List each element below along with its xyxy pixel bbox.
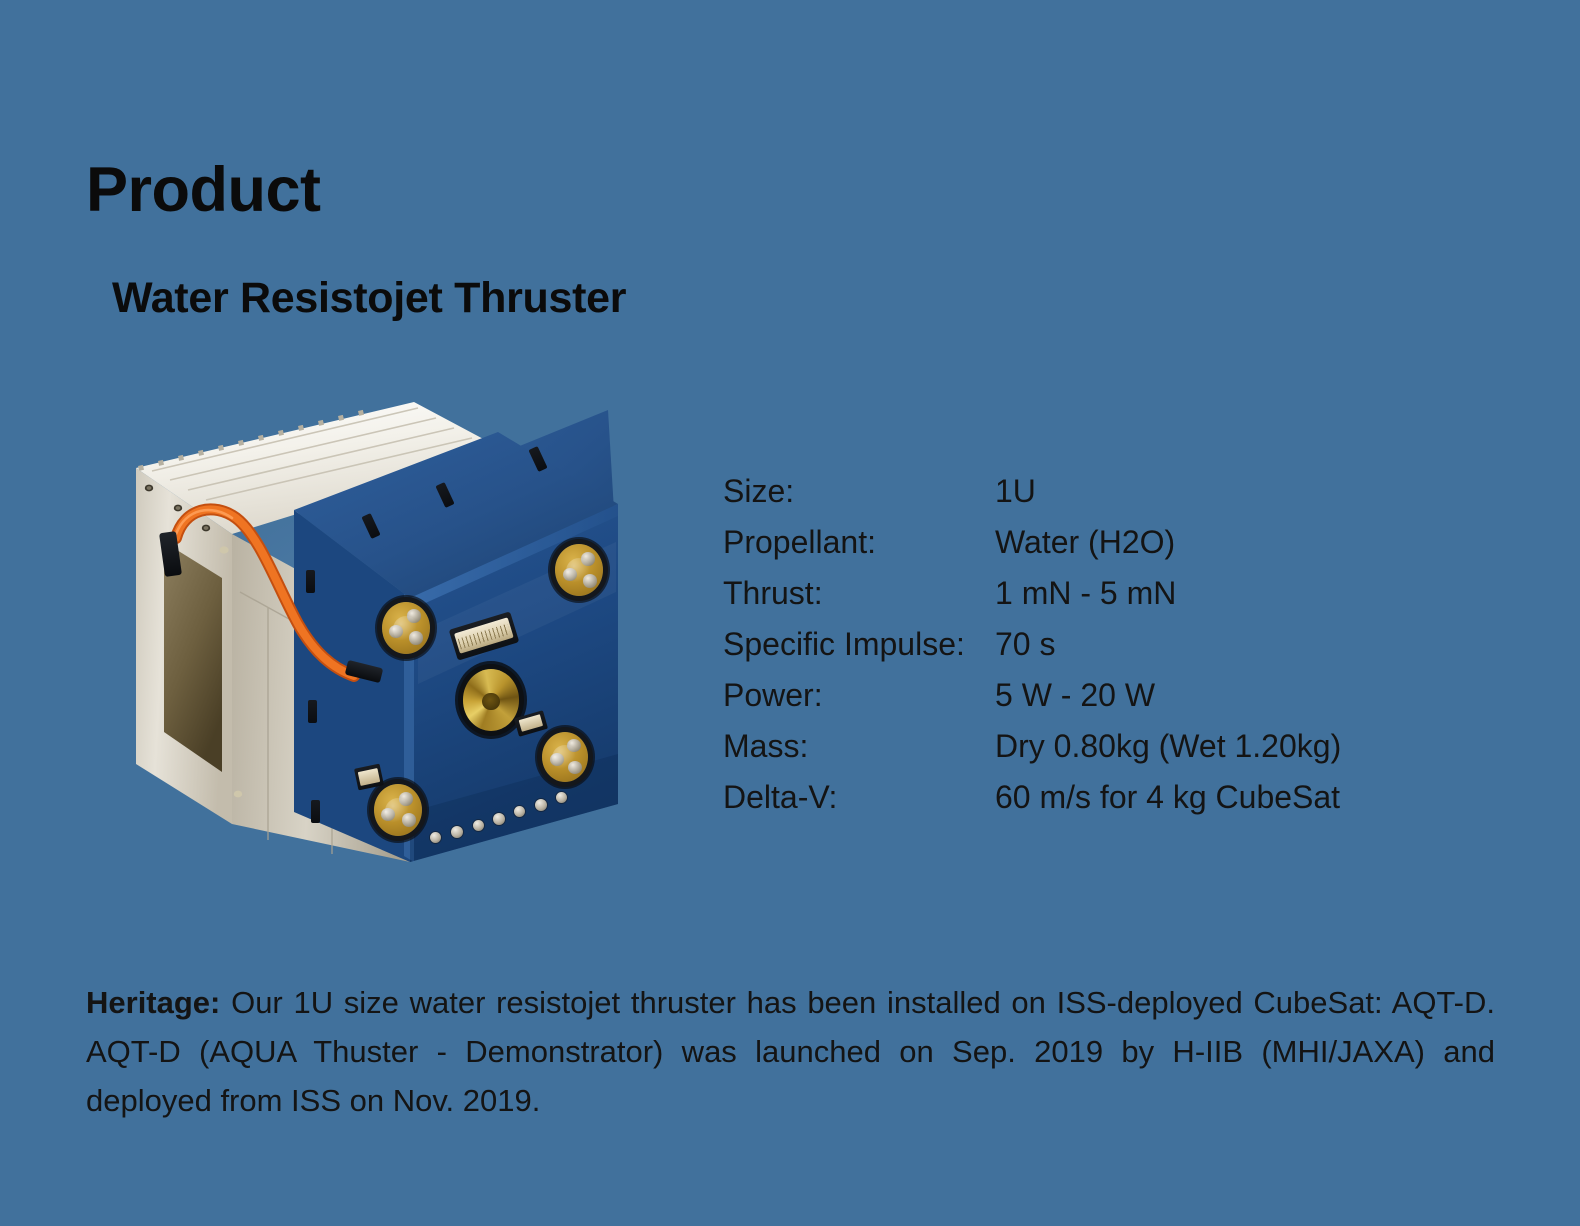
spec-row: Thrust: 1 mN - 5 mN [723, 568, 1443, 619]
spec-label: Propellant: [723, 517, 995, 568]
product-photo [118, 392, 628, 882]
spec-row: Mass: Dry 0.80kg (Wet 1.20kg) [723, 721, 1443, 772]
spec-value: 70 s [995, 619, 1055, 670]
slide-canvas: Product Water Resistojet Thruster [0, 0, 1580, 1226]
face-screw [451, 826, 463, 838]
orange-cable [118, 392, 628, 882]
spec-row: Size: 1U [723, 466, 1443, 517]
face-screw [493, 813, 505, 825]
gold-connector [555, 544, 603, 596]
spec-row: Specific Impulse: 70 s [723, 619, 1443, 670]
spec-label: Delta-V: [723, 772, 995, 823]
specification-table: Size: 1U Propellant: Water (H2O) Thrust:… [723, 466, 1443, 823]
heritage-label: Heritage: [86, 985, 220, 1020]
gold-connector [542, 732, 588, 782]
gold-connector [374, 784, 422, 836]
spec-value: 5 W - 20 W [995, 670, 1155, 721]
thruster-nozzle [458, 664, 524, 736]
spec-value: Dry 0.80kg (Wet 1.20kg) [995, 721, 1341, 772]
heritage-paragraph: Heritage: Our 1U size water resistojet t… [86, 978, 1495, 1125]
spec-row: Power: 5 W - 20 W [723, 670, 1443, 721]
face-screw [514, 806, 525, 817]
spec-label: Specific Impulse: [723, 619, 995, 670]
heritage-body: Our 1U size water resistojet thruster ha… [86, 985, 1495, 1118]
face-screw [556, 792, 567, 803]
spec-label: Power: [723, 670, 995, 721]
face-screw [535, 799, 547, 811]
spec-value: 60 m/s for 4 kg CubeSat [995, 772, 1340, 823]
spec-label: Thrust: [723, 568, 995, 619]
spec-value: 1U [995, 466, 1036, 517]
spec-row: Propellant: Water (H2O) [723, 517, 1443, 568]
spec-row: Delta-V: 60 m/s for 4 kg CubeSat [723, 772, 1443, 823]
spec-value: 1 mN - 5 mN [995, 568, 1176, 619]
product-subtitle: Water Resistojet Thruster [112, 275, 626, 322]
spec-label: Mass: [723, 721, 995, 772]
spec-value: Water (H2O) [995, 517, 1175, 568]
page-title: Product [86, 157, 321, 223]
face-screw [473, 820, 484, 831]
spec-label: Size: [723, 466, 995, 517]
gold-connector [382, 602, 430, 654]
face-screw [430, 832, 441, 843]
